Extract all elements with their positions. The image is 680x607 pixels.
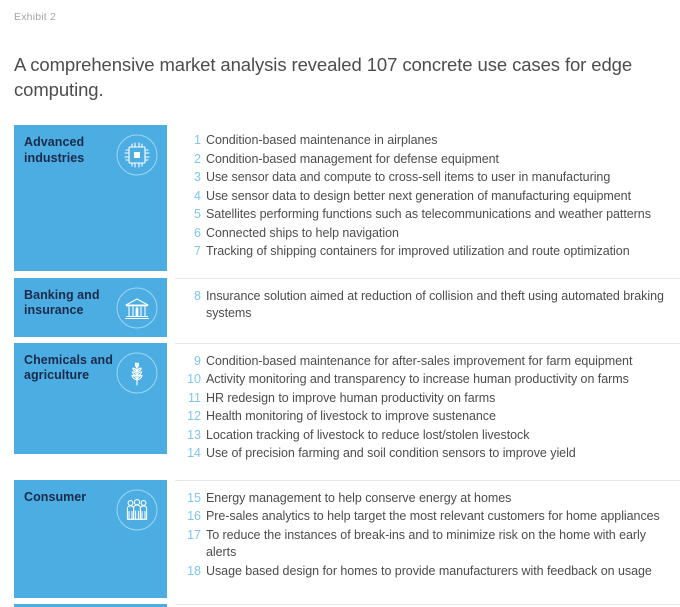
use-case-number: 15: [183, 490, 201, 508]
use-case-item[interactable]: 5Satellites performing functions such as…: [183, 206, 666, 225]
use-case-text: To reduce the instances of break-ins and…: [206, 527, 666, 562]
category-row: Chemicals and agriculture9Condition-base…: [0, 343, 680, 474]
use-case-number: 5: [183, 206, 201, 224]
use-case-item[interactable]: 10Activity monitoring and transparency t…: [183, 371, 666, 390]
category-block[interactable]: Banking and insurance: [14, 278, 167, 337]
category-label: Advanced industries: [24, 135, 119, 166]
category-row: Advanced industries1Condition-based main…: [0, 125, 680, 272]
use-case-item[interactable]: 2Condition-based management for defense …: [183, 151, 666, 170]
category-label: Chemicals and agriculture: [24, 353, 119, 384]
use-case-item[interactable]: 7Tracking of shipping containers for imp…: [183, 243, 666, 262]
use-case-number: 18: [183, 563, 201, 581]
use-case-number: 1: [183, 132, 201, 150]
use-case-item[interactable]: 9Condition-based maintenance for after-s…: [183, 353, 666, 372]
use-case-item[interactable]: 8Insurance solution aimed at reduction o…: [183, 288, 666, 324]
exhibit-page: Exhibit 2 A comprehensive market analysi…: [0, 0, 680, 607]
use-case-list: 15Energy management to help conserve ene…: [175, 480, 680, 598]
use-case-item[interactable]: 15Energy management to help conserve ene…: [183, 490, 666, 509]
use-case-item[interactable]: 14Use of precision farming and soil cond…: [183, 445, 666, 464]
wheat-icon: [115, 351, 159, 395]
use-case-text: Energy management to help conserve energ…: [206, 490, 511, 508]
category-block[interactable]: Chemicals and agriculture: [14, 343, 167, 454]
use-case-number: 8: [183, 288, 201, 306]
people-group-icon: [115, 488, 159, 532]
use-case-item[interactable]: 12Health monitoring of livestock to impr…: [183, 408, 666, 427]
use-case-number: 6: [183, 225, 201, 243]
use-case-item[interactable]: 6Connected ships to help navigation: [183, 225, 666, 244]
use-case-number: 3: [183, 169, 201, 187]
use-case-list: 8Insurance solution aimed at reduction o…: [175, 278, 680, 337]
microchip-icon: [115, 133, 159, 177]
use-case-text: Pre-sales analytics to help target the m…: [206, 508, 660, 526]
category-row: Consumer15Energy management to help cons…: [0, 480, 680, 598]
use-case-number: 12: [183, 408, 201, 426]
use-case-item[interactable]: 11HR redesign to improve human productiv…: [183, 390, 666, 409]
use-case-list: [175, 604, 680, 607]
use-case-table: Advanced industries1Condition-based main…: [0, 125, 680, 607]
use-case-item[interactable]: 17To reduce the instances of break-ins a…: [183, 527, 666, 563]
category-label: Banking and insurance: [24, 288, 119, 319]
use-case-number: 4: [183, 188, 201, 206]
category-block[interactable]: Advanced industries: [14, 125, 167, 271]
use-case-text: Activity monitoring and transparency to …: [206, 371, 629, 389]
exhibit-label: Exhibit 2: [0, 0, 680, 24]
use-case-number: 13: [183, 427, 201, 445]
use-case-number: 14: [183, 445, 201, 463]
use-case-item[interactable]: 13Location tracking of livestock to redu…: [183, 427, 666, 446]
use-case-text: Connected ships to help navigation: [206, 225, 399, 243]
use-case-text: Condition-based management for defense e…: [206, 151, 499, 169]
use-case-item[interactable]: 3Use sensor data and compute to cross-se…: [183, 169, 666, 188]
use-case-number: 2: [183, 151, 201, 169]
use-case-text: Use of precision farming and soil condit…: [206, 445, 576, 463]
use-case-text: Use sensor data to design better next ge…: [206, 188, 631, 206]
use-case-number: 11: [183, 390, 201, 408]
use-case-text: Insurance solution aimed at reduction of…: [206, 288, 666, 323]
bank-building-icon: [115, 286, 159, 330]
use-case-text: Tracking of shipping containers for impr…: [206, 243, 630, 261]
use-case-item[interactable]: 18Usage based design for homes to provid…: [183, 563, 666, 582]
use-case-text: Usage based design for homes to provide …: [206, 563, 652, 581]
use-case-item[interactable]: 16Pre-sales analytics to help target the…: [183, 508, 666, 527]
use-case-list: 9Condition-based maintenance for after-s…: [175, 343, 680, 474]
use-case-number: 7: [183, 243, 201, 261]
use-case-number: 9: [183, 353, 201, 371]
use-case-text: HR redesign to improve human productivit…: [206, 390, 495, 408]
use-case-text: Condition-based maintenance in airplanes: [206, 132, 437, 150]
page-title: A comprehensive market analysis revealed…: [0, 24, 680, 102]
category-label: Consumer: [24, 490, 86, 506]
use-case-number: 17: [183, 527, 201, 545]
use-case-number: 10: [183, 371, 201, 389]
category-block[interactable]: Consumer: [14, 480, 167, 598]
use-case-text: Health monitoring of livestock to improv…: [206, 408, 496, 426]
use-case-list: 1Condition-based maintenance in airplane…: [175, 125, 680, 272]
use-case-text: Use sensor data and compute to cross-sel…: [206, 169, 610, 187]
use-case-item[interactable]: 4Use sensor data to design better next g…: [183, 188, 666, 207]
category-row: Banking and insurance8Insurance solution…: [0, 278, 680, 337]
use-case-number: 16: [183, 508, 201, 526]
use-case-text: Location tracking of livestock to reduce…: [206, 427, 529, 445]
category-row: [0, 604, 680, 607]
use-case-text: Condition-based maintenance for after-sa…: [206, 353, 632, 371]
use-case-item[interactable]: 1Condition-based maintenance in airplane…: [183, 132, 666, 151]
category-block[interactable]: [14, 604, 167, 607]
use-case-text: Satellites performing functions such as …: [206, 206, 651, 224]
